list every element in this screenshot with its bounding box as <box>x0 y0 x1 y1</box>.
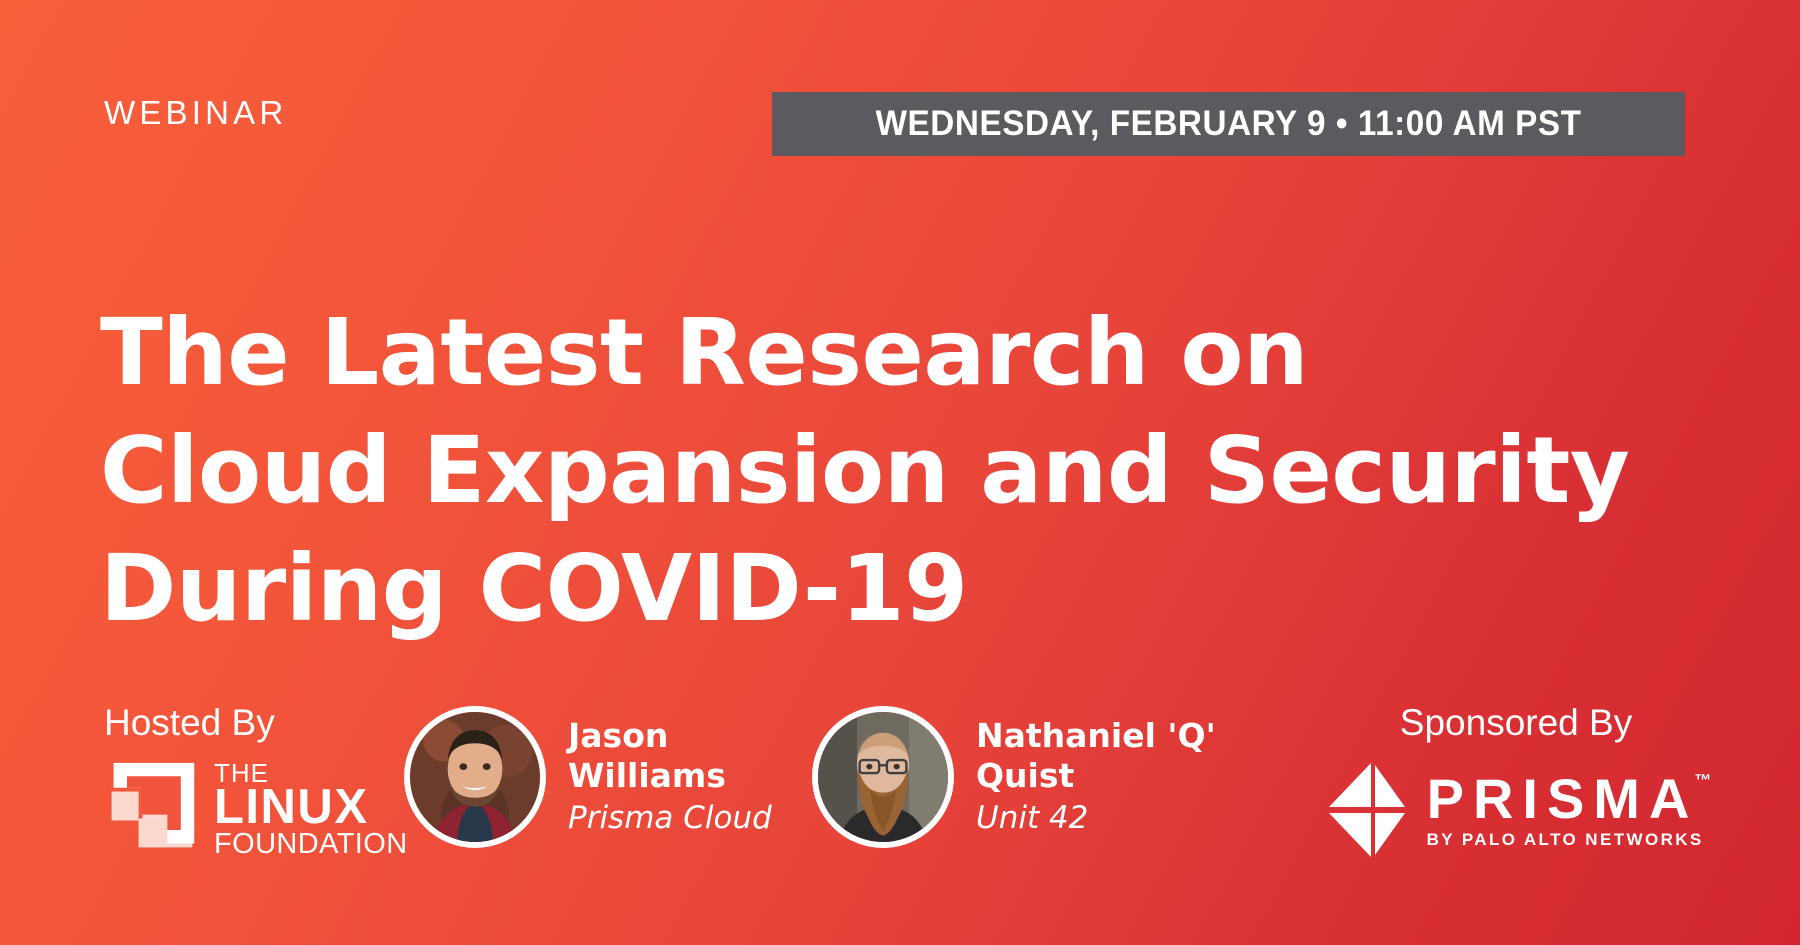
speaker-organization: Unit 42 <box>976 798 1216 838</box>
date-time-text: WEDNESDAY, FEBRUARY 9 • 11:00 AM PST <box>876 104 1582 144</box>
speaker-photo-jason-williams <box>410 712 540 842</box>
prisma-logo: PRISMA ™ BY PALO ALTO NETWORKS <box>1316 761 1716 859</box>
headline-line-3: During COVID-19 <box>100 530 1720 648</box>
speaker-info: Jason Williams Prisma Cloud <box>568 716 772 838</box>
sponsored-by-label: Sponsored By <box>1316 704 1716 741</box>
speaker-name-line-1: Jason <box>568 716 668 755</box>
prisma-name-text: PRISMA <box>1427 770 1699 828</box>
speaker-name-line-2: Quist <box>976 756 1074 795</box>
speaker-name-line-2: Williams <box>568 756 726 795</box>
sponsor-block: Sponsored By PRISMA ™ BY PALO ALTO NETWO… <box>1316 704 1716 859</box>
avatar <box>404 706 546 848</box>
date-time-badge: WEDNESDAY, FEBRUARY 9 • 11:00 AM PST <box>772 92 1685 156</box>
headline-line-2: Cloud Expansion and Security <box>100 412 1720 530</box>
trademark-symbol: ™ <box>1694 770 1711 792</box>
lf-word-foundation: FOUNDATION <box>214 829 408 859</box>
speaker-name-line-1: Nathaniel 'Q' <box>976 716 1216 755</box>
avatar <box>812 706 954 848</box>
speaker-organization: Prisma Cloud <box>568 798 772 838</box>
prisma-tagline: BY PALO ALTO NETWORKS <box>1427 830 1712 850</box>
host-block: Hosted By THE LINUX FOUNDATION <box>104 704 394 859</box>
speaker-name: Jason Williams <box>568 716 772 796</box>
eyebrow-label: WEBINAR <box>104 96 287 129</box>
credits-row: Hosted By THE LINUX FOUNDATION <box>0 690 1800 905</box>
linux-foundation-logo: THE LINUX FOUNDATION <box>104 759 394 859</box>
hosted-by-label: Hosted By <box>104 704 394 741</box>
prisma-wordmark: PRISMA ™ BY PALO ALTO NETWORKS <box>1427 770 1712 850</box>
page-title: The Latest Research on Cloud Expansion a… <box>100 294 1720 648</box>
speaker-photo-nathaniel-quist <box>818 712 948 842</box>
speaker-card: Nathaniel 'Q' Quist Unit 42 <box>812 706 1216 848</box>
headline-line-1: The Latest Research on <box>100 294 1720 412</box>
linux-foundation-mark-icon <box>104 759 200 855</box>
webinar-promo-banner: WEBINAR WEDNESDAY, FEBRUARY 9 • 11:00 AM… <box>0 0 1800 945</box>
speaker-info: Nathaniel 'Q' Quist Unit 42 <box>976 716 1216 838</box>
lf-word-linux: LINUX <box>214 786 408 829</box>
speaker-card: Jason Williams Prisma Cloud <box>404 706 772 848</box>
linux-foundation-wordmark: THE LINUX FOUNDATION <box>214 759 408 859</box>
prisma-prism-mark-icon <box>1321 761 1407 859</box>
speaker-name: Nathaniel 'Q' Quist <box>976 716 1216 796</box>
